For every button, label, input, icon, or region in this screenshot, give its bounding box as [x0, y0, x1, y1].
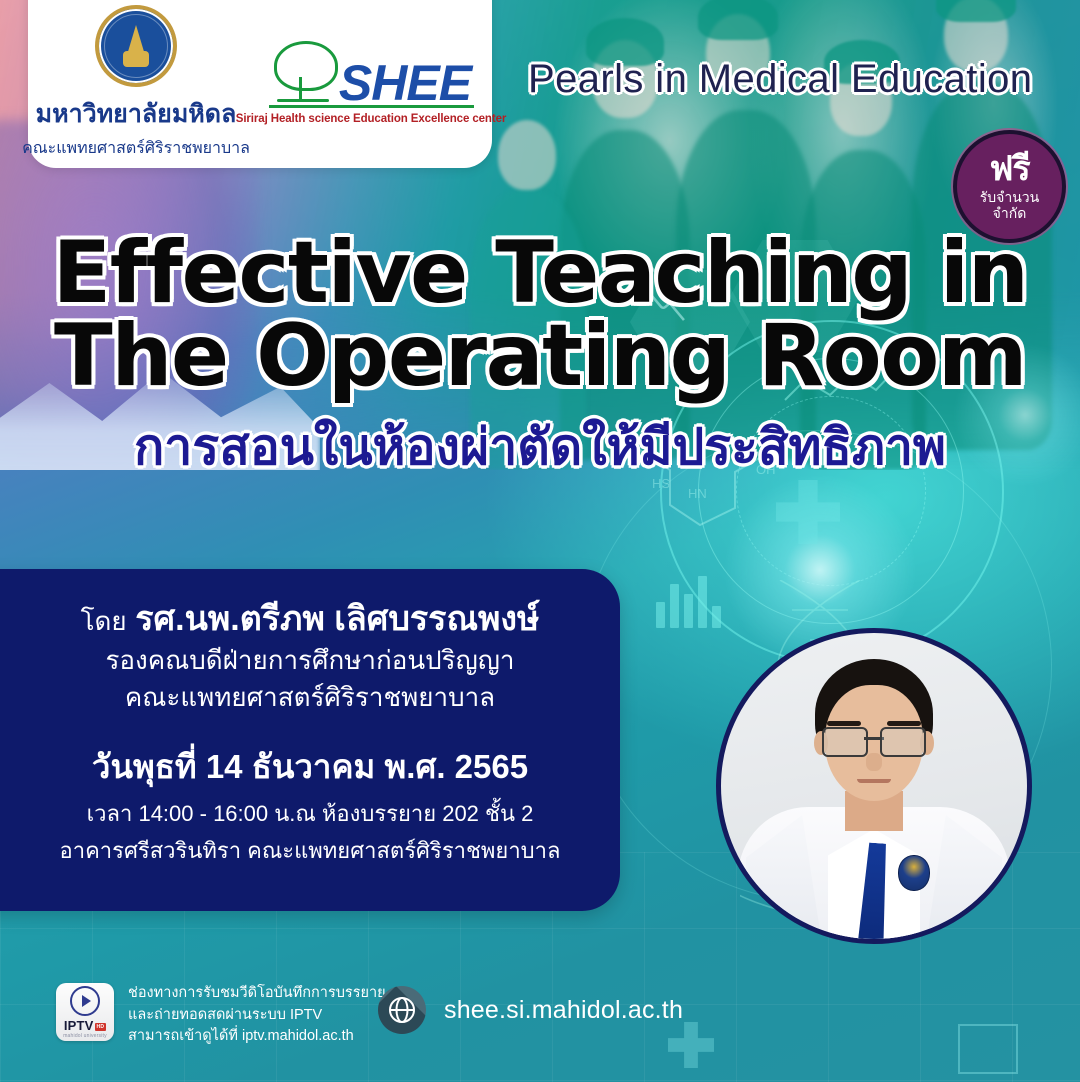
- svg-text:HS: HS: [652, 476, 670, 491]
- poster-title-block: Effective Teaching in The Operating Room…: [0, 232, 1080, 473]
- iptv-hd-badge: HD: [95, 1023, 107, 1031]
- speaker-name: รศ.นพ.ตรีภพ เลิศบรรณพงษ์: [135, 600, 539, 638]
- title-line-2: The Operating Room: [0, 315, 1080, 398]
- title-line-1: Effective Teaching in: [0, 232, 1080, 315]
- iptv-logo-label: IPTV: [64, 1018, 94, 1033]
- shee-wordmark: SHEE: [339, 60, 471, 108]
- iptv-logo-sub: mahidol university: [63, 1033, 107, 1039]
- website-block[interactable]: shee.si.mahidol.ac.th: [378, 986, 683, 1034]
- free-badge-main-text: ฟรี: [989, 152, 1029, 186]
- globe-icon: [378, 986, 426, 1034]
- eyebrow-right: [887, 721, 921, 726]
- header-logo-card: มหาวิทยาลัยมหิดล คณะแพทยศาสตร์ศิริราชพยา…: [28, 0, 492, 168]
- svg-text:HN: HN: [688, 486, 707, 501]
- shee-tagline: Siriraj Health science Education Excelle…: [236, 113, 506, 125]
- person-head: [498, 120, 556, 190]
- footer: IPTVHD mahidol university ช่องทางการรับช…: [0, 922, 1080, 1082]
- iptv-description-line-1: ช่องทางการรับชมวีดิโอบันทึกการบรรยาย: [128, 983, 386, 1005]
- event-info-panel: โดย รศ.นพ.ตรีภพ เลิศบรรณพงษ์ รองคณบดีฝ่า…: [0, 569, 620, 911]
- speaker-role-line-2: คณะแพทยศาสตร์ศิริราชพยาบาล: [40, 680, 580, 714]
- title-thai: การสอนในห้องผ่าตัดให้มีประสิทธิภาพ: [0, 421, 1080, 474]
- shee-logo: SHEE Siriraj Health science Education Ex…: [260, 41, 482, 125]
- siriraj-emblem-icon: [898, 855, 930, 891]
- free-badge-line1: รับจำนวน: [980, 189, 1039, 205]
- event-detail-line-2: อาคารศรีสวรินทิรา คณะแพทยศาสตร์ศิริราชพย…: [40, 836, 580, 866]
- surgical-cap: [698, 0, 778, 40]
- mahidol-faculty-name: คณะแพทยศาสตร์ศิริราชพยาบาล: [22, 136, 250, 161]
- mouth: [857, 779, 891, 783]
- iptv-description-line-3: สามารถเข้าดูได้ที่ iptv.mahidol.ac.th: [128, 1026, 386, 1048]
- iptv-description-line-2: และถ่ายทอดสดผ่านระบบ IPTV: [128, 1005, 386, 1027]
- event-date: วันพุธที่ 14 ธันวาคม พ.ศ. 2565: [40, 740, 580, 793]
- mahidol-university-name: มหาวิทยาลัยมหิดล: [36, 94, 237, 134]
- speaker-portrait: [716, 628, 1032, 944]
- iptv-description: ช่องทางการรับชมวีดิโอบันทึกการบรรยาย และ…: [128, 983, 386, 1048]
- website-url[interactable]: shee.si.mahidol.ac.th: [444, 996, 683, 1025]
- surgical-cap: [936, 0, 1016, 22]
- eyebrow-left: [827, 721, 861, 726]
- tree-icon: [271, 41, 335, 107]
- mahidol-seal-icon: [95, 5, 177, 87]
- speaker-role-line-1: รองคณบดีฝ่ายการศึกษาก่อนปริญญา: [40, 643, 580, 677]
- poster-root: HS HN OH: [0, 0, 1080, 1082]
- event-detail-line-1: เวลา 14:00 - 16:00 น.ณ ห้องบรรยาย 202 ชั…: [40, 799, 580, 829]
- by-label: โดย: [81, 606, 127, 636]
- eyeglasses-icon: [822, 727, 926, 753]
- nose: [866, 753, 882, 771]
- free-badge-line2: จำกัด: [993, 205, 1027, 221]
- mahidol-logo: มหาวิทยาลัยมหิดล คณะแพทยศาสตร์ศิริราชพยา…: [38, 5, 234, 161]
- iptv-logo-icon: IPTVHD mahidol university: [56, 983, 114, 1041]
- iptv-info-block: IPTVHD mahidol university ช่องทางการรับช…: [56, 983, 386, 1048]
- bar-chart-decoration: [656, 570, 721, 628]
- speaker-line: โดย รศ.นพ.ตรีภพ เลิศบรรณพงษ์: [40, 599, 580, 640]
- series-tagline: Pearls in Medical Education: [528, 57, 1032, 102]
